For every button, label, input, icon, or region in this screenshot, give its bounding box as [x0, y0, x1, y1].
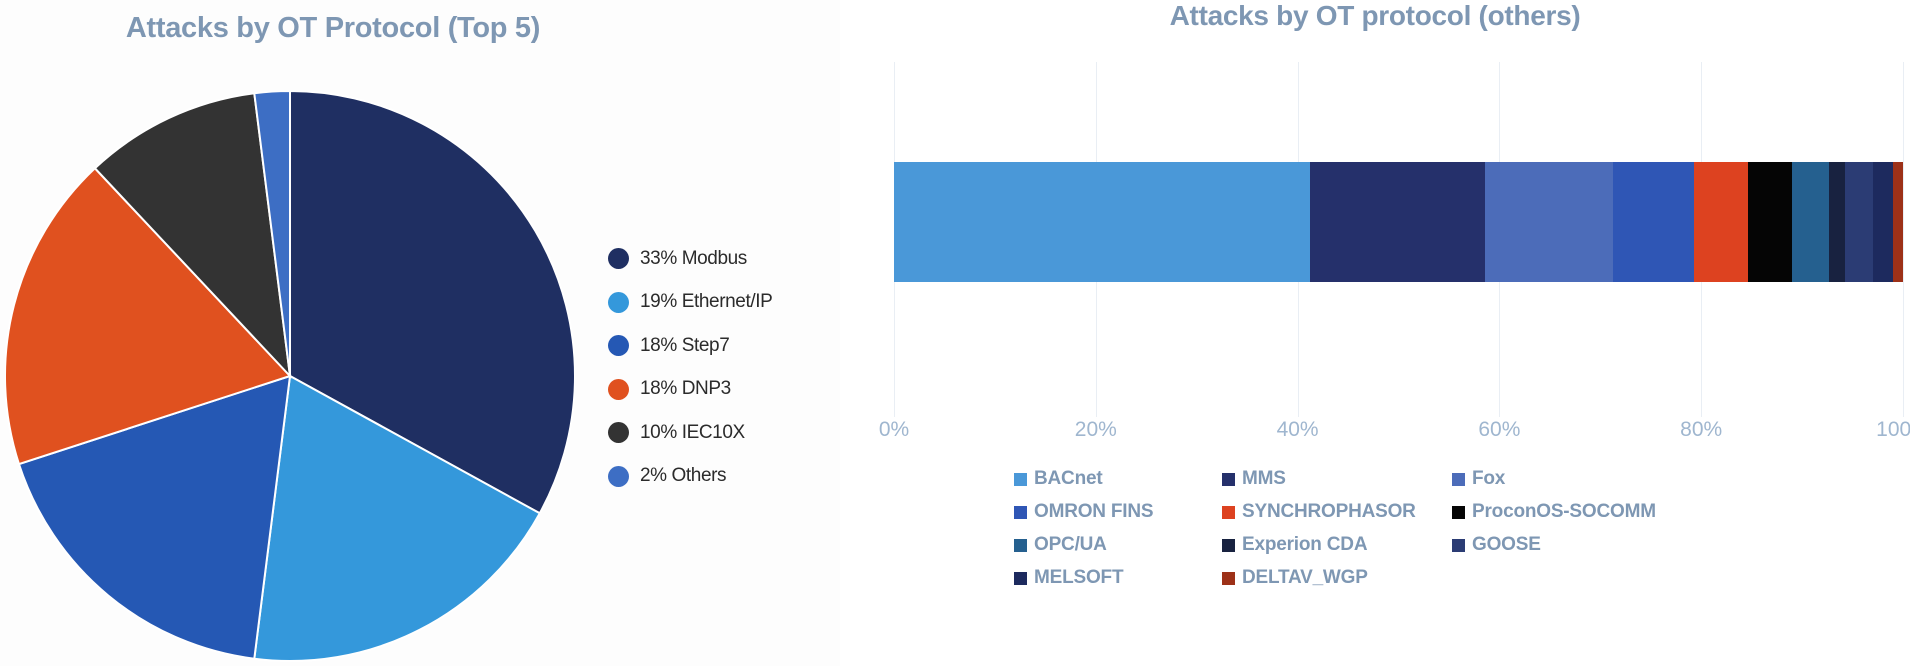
- legend-color-swatch-icon: [1014, 473, 1027, 486]
- bar-legend-label: OPC/UA: [1034, 534, 1107, 556]
- dashboard-root: Attacks by OT Protocol (Top 5) 33% Modbu…: [0, 0, 1910, 666]
- bar-legend-item[interactable]: MMS: [1222, 468, 1452, 490]
- legend-color-dot-icon: [608, 422, 629, 443]
- pie-chart-panel: Attacks by OT Protocol (Top 5) 33% Modbu…: [0, 0, 840, 666]
- pie-legend-label: 33% Modbus: [640, 248, 747, 270]
- bar-legend-label: OMRON FINS: [1034, 501, 1153, 523]
- bar-legend-item[interactable]: GOOSE: [1452, 534, 1782, 556]
- bar-segment[interactable]: [1829, 162, 1845, 282]
- stacked-bar-panel: Attacks by OT protocol (others) 0%20%40%…: [840, 0, 1910, 666]
- pie-legend: 33% Modbus19% Ethernet/IP18% Step718% DN…: [608, 248, 772, 487]
- pie-legend-label: 2% Others: [640, 465, 726, 487]
- x-axis-tick-label: 0%: [879, 418, 909, 442]
- bar-legend-label: DELTAV_WGP: [1242, 567, 1368, 589]
- bar-legend-label: MELSOFT: [1034, 567, 1123, 589]
- legend-color-swatch-icon: [1014, 539, 1027, 552]
- bar-legend-label: GOOSE: [1472, 534, 1541, 556]
- pie-legend-label: 18% DNP3: [640, 378, 731, 400]
- gridline: [1903, 62, 1904, 417]
- legend-color-swatch-icon: [1452, 473, 1465, 486]
- x-axis-tick-label: 60%: [1478, 418, 1520, 442]
- bar-legend-label: MMS: [1242, 468, 1286, 490]
- pie-legend-label: 19% Ethernet/IP: [640, 291, 772, 313]
- bar-legend-item[interactable]: SYNCHROPHASOR: [1222, 501, 1452, 523]
- stacked-bar: [894, 162, 1903, 282]
- bar-segment[interactable]: [894, 162, 1310, 282]
- legend-color-dot-icon: [608, 379, 629, 400]
- legend-color-swatch-icon: [1222, 539, 1235, 552]
- pie-legend-item[interactable]: 2% Others: [608, 466, 772, 487]
- legend-color-swatch-icon: [1452, 539, 1465, 552]
- bar-legend-item[interactable]: ProconOS-SOCOMM: [1452, 501, 1782, 523]
- bar-legend-item[interactable]: OPC/UA: [1014, 534, 1222, 556]
- bar-legend-label: Fox: [1472, 468, 1505, 490]
- bar-legend-item[interactable]: BACnet: [1014, 468, 1222, 490]
- pie-slice-group: [5, 91, 575, 661]
- x-axis-tick-label: 100%: [1876, 418, 1910, 442]
- bar-legend-label: SYNCHROPHASOR: [1242, 501, 1416, 523]
- pie-legend-item[interactable]: 18% Step7: [608, 335, 772, 356]
- bar-plot-area: [894, 62, 1903, 417]
- x-axis-tick-labels: 0%20%40%60%80%100%: [894, 418, 1903, 452]
- pie-chart-title: Attacks by OT Protocol (Top 5): [0, 12, 666, 45]
- bar-segment[interactable]: [1873, 162, 1893, 282]
- bar-legend: BACnetMMSFoxOMRON FINSSYNCHROPHASORProco…: [1014, 468, 1782, 589]
- legend-color-swatch-icon: [1452, 506, 1465, 519]
- x-axis-tick-label: 80%: [1680, 418, 1722, 442]
- pie-chart-graphic: [5, 72, 575, 666]
- pie-legend-item[interactable]: 10% IEC10X: [608, 422, 772, 443]
- legend-color-dot-icon: [608, 466, 629, 487]
- bar-segment[interactable]: [1694, 162, 1747, 282]
- pie-legend-label: 18% Step7: [640, 335, 729, 357]
- legend-color-swatch-icon: [1222, 473, 1235, 486]
- bar-legend-item[interactable]: DELTAV_WGP: [1222, 567, 1452, 589]
- legend-color-dot-icon: [608, 248, 629, 269]
- legend-color-swatch-icon: [1222, 506, 1235, 519]
- bar-legend-label: BACnet: [1034, 468, 1102, 490]
- bar-legend-item[interactable]: Fox: [1452, 468, 1782, 490]
- legend-color-swatch-icon: [1014, 506, 1027, 519]
- bar-legend-label: ProconOS-SOCOMM: [1472, 501, 1656, 523]
- bar-chart-title: Attacks by OT protocol (others): [840, 0, 1910, 32]
- bar-segment[interactable]: [1310, 162, 1484, 282]
- x-axis-tick-label: 20%: [1075, 418, 1117, 442]
- legend-color-dot-icon: [608, 292, 629, 313]
- pie-legend-item[interactable]: 33% Modbus: [608, 248, 772, 269]
- legend-color-swatch-icon: [1014, 572, 1027, 585]
- bar-legend-item[interactable]: Experion CDA: [1222, 534, 1452, 556]
- legend-color-dot-icon: [608, 335, 629, 356]
- bar-legend-label: Experion CDA: [1242, 534, 1367, 556]
- bar-legend-item[interactable]: MELSOFT: [1014, 567, 1222, 589]
- x-axis-tick-label: 40%: [1277, 418, 1319, 442]
- bar-segment[interactable]: [1792, 162, 1829, 282]
- bar-segment[interactable]: [1485, 162, 1613, 282]
- legend-color-swatch-icon: [1222, 572, 1235, 585]
- pie-svg: [5, 72, 575, 666]
- pie-legend-label: 10% IEC10X: [640, 422, 745, 444]
- pie-legend-item[interactable]: 19% Ethernet/IP: [608, 292, 772, 313]
- bar-segment[interactable]: [1613, 162, 1695, 282]
- bar-segment[interactable]: [1893, 162, 1903, 282]
- pie-legend-item[interactable]: 18% DNP3: [608, 379, 772, 400]
- bar-segment[interactable]: [1845, 162, 1872, 282]
- bar-segment[interactable]: [1748, 162, 1792, 282]
- bar-legend-item[interactable]: OMRON FINS: [1014, 501, 1222, 523]
